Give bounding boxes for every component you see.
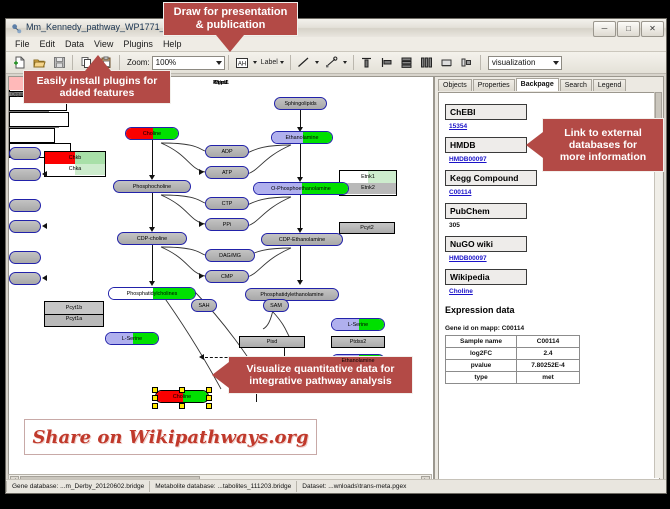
menu-help[interactable]: Help [158,38,187,51]
tab-objects[interactable]: Objects [438,79,472,91]
arrowhead-8 [199,354,204,360]
visualize-callout-line1: Visualize quantitative data for [246,363,394,375]
chevron-down-icon-2 [553,61,559,65]
chevron-down-icon [216,61,222,65]
edge-etn-pethn [300,144,301,180]
node-label-choline: Choline [143,131,161,137]
node-phosphocholine[interactable]: Phosphocholine [113,180,191,193]
visualization-combo[interactable]: visualization [488,56,562,70]
draw-callout: Draw for presentation & publication [163,2,298,36]
node-cof-l4[interactable] [9,220,41,233]
new-file-icon[interactable] [11,55,27,71]
plugins-callout: Easily install plugins for added feature… [23,70,171,104]
screenshot-root: Mm_Kennedy_pathway_WP1771_45176.gpml ─ □… [0,0,670,509]
arrowhead-l6 [42,275,47,281]
toolbar-separator-6 [480,55,481,70]
menu-data[interactable]: Data [60,38,89,51]
node-label-lserine-right: L-Serine [348,322,368,328]
section-head-chebi: ChEBI [445,104,527,120]
links-callout: Link to external databases for more info… [542,118,664,172]
link-nugo[interactable]: HMDB00097 [449,255,650,262]
section-head-nugo: NuGO wiki [445,236,527,252]
cell-value-log2fc: 2.4 [517,348,580,360]
label-tool-dropdown-icon[interactable] [280,61,284,64]
cell-value-type: met [517,372,580,384]
node-label-pcyt1b: Pcyt1b [45,305,103,311]
cell-label-pvalue: pvalue [446,360,517,372]
draw-callout-arrow [216,35,244,52]
toolbar-separator-5 [353,55,354,70]
value-pubchem: 305 [449,222,650,229]
node-label-ptdcholine: Phosphatidylcholines [127,291,178,297]
status-metabolite-database: Metabolite database: ...tabolites_111203… [149,481,296,492]
links-callout-line1: Link to external [564,127,642,139]
gene-id-note: Gene id on mapp: C00114 [445,325,650,332]
maximize-icon[interactable]: □ [617,21,640,37]
node-cof-l3[interactable] [9,199,41,212]
node-label-dagmg: DAG/MG [219,253,241,259]
node-label-lserine-left: L-Serine [122,336,142,342]
node-ethanolamine[interactable]: Ethanolamine [271,131,333,144]
toolbar-separator-1 [72,55,73,70]
status-dataset: Dataset: ...wnloads\trans-meta.pgex [296,481,411,492]
node-label-atp: ATP [222,170,232,176]
node-label-adp: ADP [221,149,232,155]
node-choline-top[interactable]: Choline [125,127,179,140]
links-callout-line2: databases for [569,139,637,151]
group-icon[interactable] [439,55,455,71]
share-callout: Share on Wikipathways.org [24,419,317,455]
node-pemt[interactable]: Pemt [9,128,55,143]
selection-handle-bl[interactable] [152,403,158,409]
ungroup-icon[interactable] [459,55,475,71]
section-head-pubchem: PubChem [445,203,527,219]
node-label: Sphingolipids [284,101,316,107]
node-label-cdpetn: CDP-Ethanolamine [279,237,325,243]
arrowhead-cmp [199,273,204,279]
toolbar-separator-3 [228,55,229,70]
selection-handle-mr[interactable] [206,395,212,401]
node-cof-l6[interactable] [9,272,41,285]
node-label-phosphocholine: Phosphocholine [133,184,171,190]
arrowhead-3 [149,281,155,286]
node-label-ppi: PPi [223,222,231,228]
toolbar-separator-2 [119,55,120,70]
visualize-callout: Visualize quantitative data for integrat… [228,356,413,394]
menubar: File Edit Data View Plugins Help [6,37,666,52]
selection-handle-br[interactable] [206,403,212,409]
node-label-cmp: CMP [221,274,233,280]
node-label-etnk1: Etnk1 [340,174,396,180]
window-titlebar: Mm_Kennedy_pathway_WP1771_45176.gpml ─ □… [6,19,666,38]
expression-data-title: Expression data [445,305,650,315]
node-cof-l1[interactable] [9,147,41,160]
node-phosphatidylethanolamine[interactable]: Phosphatidylethanolamine [245,288,339,301]
node-ptdss2[interactable]: Ptdss2 [331,336,385,348]
node-adp[interactable]: ADP [205,145,249,158]
zoom-combo[interactable]: 100% [152,56,225,70]
edge-phosphocholine-cdpcholine [152,192,153,230]
section-head-kegg: Kegg Compound [445,170,537,186]
distribute-icon[interactable] [419,55,435,71]
draw-callout-line2: & publication [196,19,266,32]
node-l-serine-right[interactable]: L-Serine [331,318,385,331]
align-left-icon[interactable] [379,55,395,71]
section-head-wikipedia: Wikipedia [445,269,527,285]
node-label-pcyt1a: Pcyt1a [45,316,103,322]
node-phosphatidylcholines[interactable]: Phosphatidylcholines [108,287,196,300]
interaction-dropdown-icon[interactable] [343,61,347,64]
link-kegg[interactable]: C00114 [449,189,650,196]
node-ppi[interactable]: PPi [205,218,249,231]
node-label-ptdss2: Ptdss2 [350,339,366,345]
node-chkb-chka[interactable]: Chkb Chka [44,151,106,177]
table-row: Sample name C00114 [446,336,580,348]
svg-text:AH: AH [238,61,246,67]
menu-view[interactable]: View [89,38,118,51]
links-callout-line3: more information [560,151,646,163]
edge-cdpetn-ptdetn [300,245,301,283]
menu-edit[interactable]: Edit [35,38,61,51]
edge-cdpcholine-ptdcholine [152,244,153,283]
align-top-icon[interactable] [359,55,375,71]
arrowhead-ppi [199,221,204,227]
arrowhead-l2 [42,171,47,177]
link-wikipedia[interactable]: Choline [449,288,650,295]
pathvisio-icon [11,23,22,34]
node-atp[interactable]: ATP [205,166,249,179]
node-cdp-ethanolamine[interactable]: CDP-Ethanolamine [261,233,343,246]
save-icon[interactable] [51,55,67,71]
toolbar-separator-4 [290,55,291,70]
node-sphingolipids[interactable]: Sphingolipids [274,97,327,110]
node-cof-l2[interactable] [9,168,41,181]
menu-file[interactable]: File [10,38,35,51]
node-label-ethanolamine-bottom: Ethanolamine [342,358,375,364]
share-callout-text: Share on Wikipathways.org [32,427,308,448]
visualization-value: visualization [492,58,536,67]
plugins-callout-arrow [85,55,111,71]
stack-icon[interactable] [399,55,415,71]
line-dropdown-icon[interactable] [315,61,319,64]
node-label-sah: SAH [198,303,209,309]
node-sah[interactable]: SAH [191,299,217,312]
visualize-callout-arrow [212,362,229,388]
edge-pethn-cdpetn [300,194,301,231]
node-label-choline-selected: Choline [173,394,191,400]
status-gene-database: Gene database: ...m_Derby_20120602.bridg… [6,481,149,492]
node-label-ctp: CTP [222,201,233,207]
node-label-chka: Chka [45,166,105,172]
node-label-opethanolamine: O-Phosphoethanolamine [271,186,331,192]
draw-callout-line1: Draw for presentation [174,6,288,19]
cell-label-type: type [446,372,517,384]
node-cof-l5[interactable] [9,251,41,264]
cell-value-sample: C00114 [517,336,580,348]
tab-legend[interactable]: Legend [593,79,626,91]
node-pisd[interactable]: Pisd [239,336,305,348]
node-label-pcyt2: Pcyt2 [360,225,373,231]
plugins-callout-line2: added features [60,87,135,99]
node-dag-mg[interactable]: DAG/MG [205,249,255,262]
minimize-icon[interactable]: ─ [593,21,616,37]
section-head-hmdb: HMDB [445,137,527,153]
interaction-icon[interactable] [324,55,340,71]
label-tool-button[interactable]: Label [261,59,278,66]
node-l-serine-left[interactable]: L-Serine [105,332,159,345]
node-sam[interactable]: SAM [263,299,289,312]
arrowhead-l4 [42,223,47,229]
node-label-chkb: Chkb [45,155,105,161]
node-label-ethanolamine: Ethanolamine [286,135,319,141]
node-ctp[interactable]: CTP [205,197,249,210]
selection-handle-tc[interactable] [179,387,185,393]
panel-tabstrip: Objects Properties Backpage Search Legen… [435,77,663,91]
arrowhead-atp [199,169,204,175]
node-label-ptdetn: Phosphatidylethanolamine [260,292,323,298]
open-folder-icon[interactable] [31,55,47,71]
table-row: type met [446,372,580,384]
expression-table: Sample name C00114 log2FC 2.4 pvalue 7.8… [445,335,580,384]
selection-handle-bc[interactable] [179,403,185,409]
cell-value-pvalue: 7.80252E-4 [517,360,580,372]
line-icon[interactable] [296,55,312,71]
node-label-sgpl1: Sgpl1 [9,80,433,86]
node-cmp[interactable]: CMP [205,270,249,283]
tab-properties[interactable]: Properties [473,79,515,91]
node-pcyt1b-pcyt1a[interactable]: Pcyt1b Pcyt1a [44,301,104,327]
selection-handle-ml[interactable] [152,395,158,401]
arrowhead-7 [297,280,303,285]
close-icon[interactable]: ✕ [641,21,664,37]
selection-handle-tl[interactable] [152,387,158,393]
text-label-icon[interactable]: AH [234,55,250,71]
node-label-pisd: Pisd [267,339,278,345]
statusbar: Gene database: ...m_Derby_20120602.bridg… [6,479,666,493]
cell-label-sample: Sample name [446,336,517,348]
node-label-sam: SAM [270,303,282,309]
node-label-cdpcholine: CDP-choline [137,236,167,242]
node-pcyt2[interactable]: Pcyt2 [339,222,395,234]
tab-search[interactable]: Search [560,79,592,91]
visualize-callout-line2: integrative pathway analysis [249,375,391,387]
table-row: log2FC 2.4 [446,348,580,360]
tab-backpage[interactable]: Backpage [516,78,559,91]
links-callout-arrow [526,132,543,158]
menu-plugins[interactable]: Plugins [118,38,158,51]
edge-choline-phosphocholine [152,140,153,178]
node-chpt1[interactable]: Chpt1 [9,112,69,127]
table-row: pvalue 7.80252E-4 [446,360,580,372]
node-cdp-choline[interactable]: CDP-choline [117,232,187,245]
zoom-value: 100% [156,58,176,67]
cell-label-log2fc: log2FC [446,348,517,360]
label-dropdown-icon[interactable] [253,61,257,64]
zoom-label: Zoom: [127,58,150,67]
node-o-phosphoethanolamine[interactable]: O-Phosphoethanolamine [253,182,349,195]
window-controls: ─ □ ✕ [593,21,664,37]
